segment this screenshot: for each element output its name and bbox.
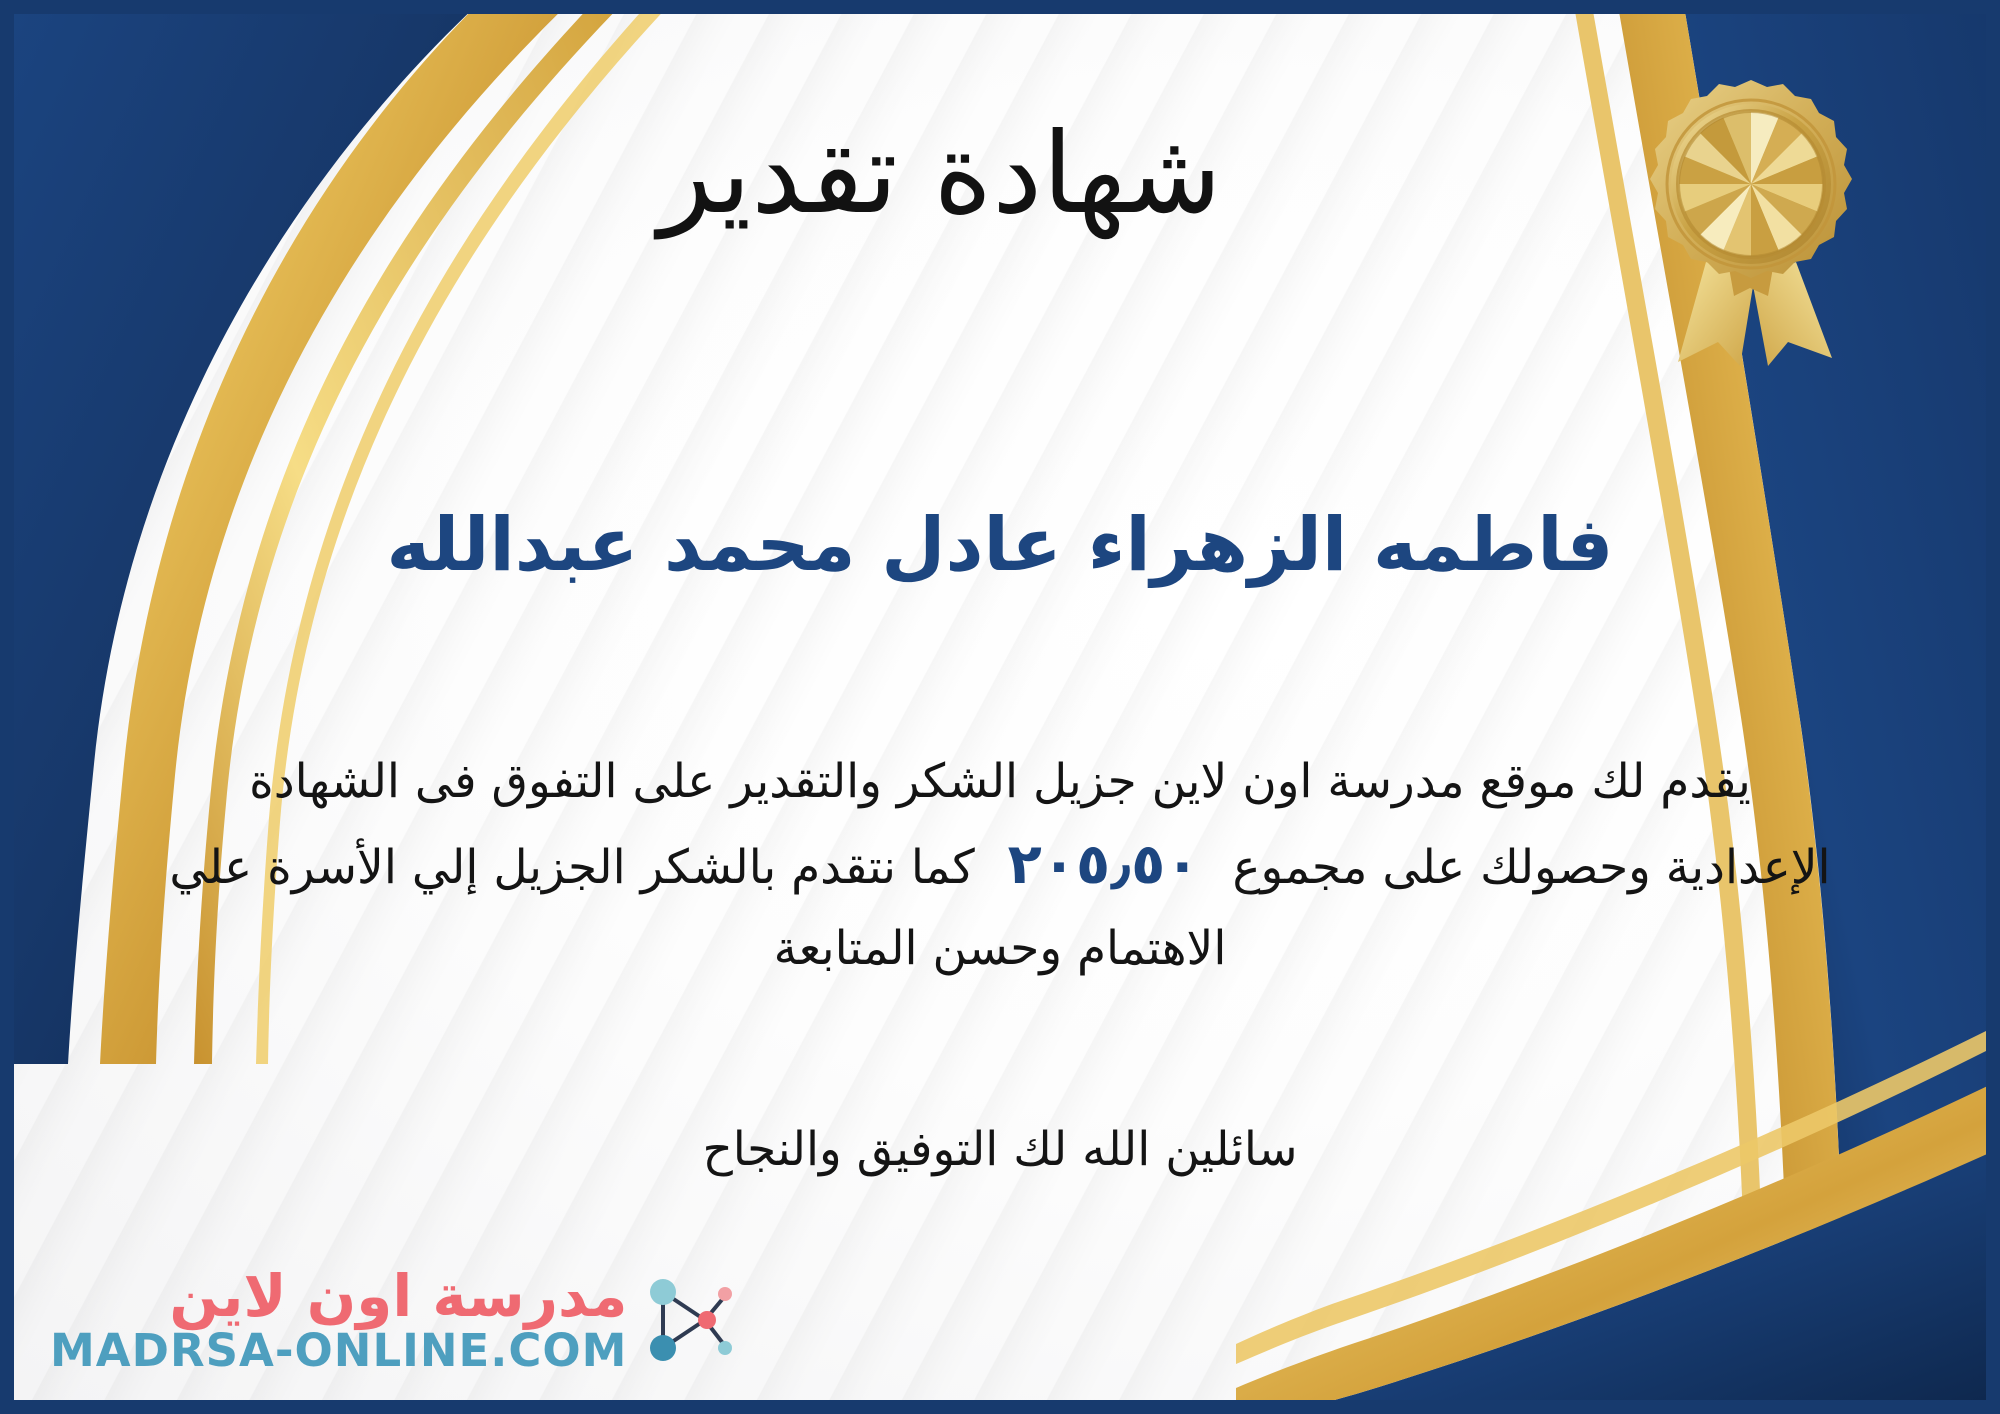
logo-arabic-name: مدرسة اون لاين	[169, 1266, 627, 1327]
logo-website: MADRSA-ONLINE.COM	[50, 1327, 627, 1374]
total-score: ٢٠٥٫٥٠	[990, 832, 1218, 897]
student-name: فاطمه الزهراء عادل محمد عبدالله	[14, 499, 1986, 592]
certificate-body: يقدم لك موقع مدرسة اون لاين جزيل الشكر و…	[164, 744, 1836, 987]
network-nodes-icon	[637, 1270, 733, 1370]
logo-text-block: مدرسة اون لاين MADRSA-ONLINE.COM	[50, 1266, 627, 1374]
certificate-page: شهادة تقدير	[0, 0, 2000, 1414]
site-logo[interactable]: مدرسة اون لاين MADRSA-ONLINE.COM	[50, 1266, 733, 1374]
closing-wish: سائلين الله لك التوفيق والنجاح	[14, 1122, 1986, 1177]
paper-background: شهادة تقدير	[14, 14, 1986, 1400]
gold-award-medal-icon	[1636, 66, 1866, 366]
